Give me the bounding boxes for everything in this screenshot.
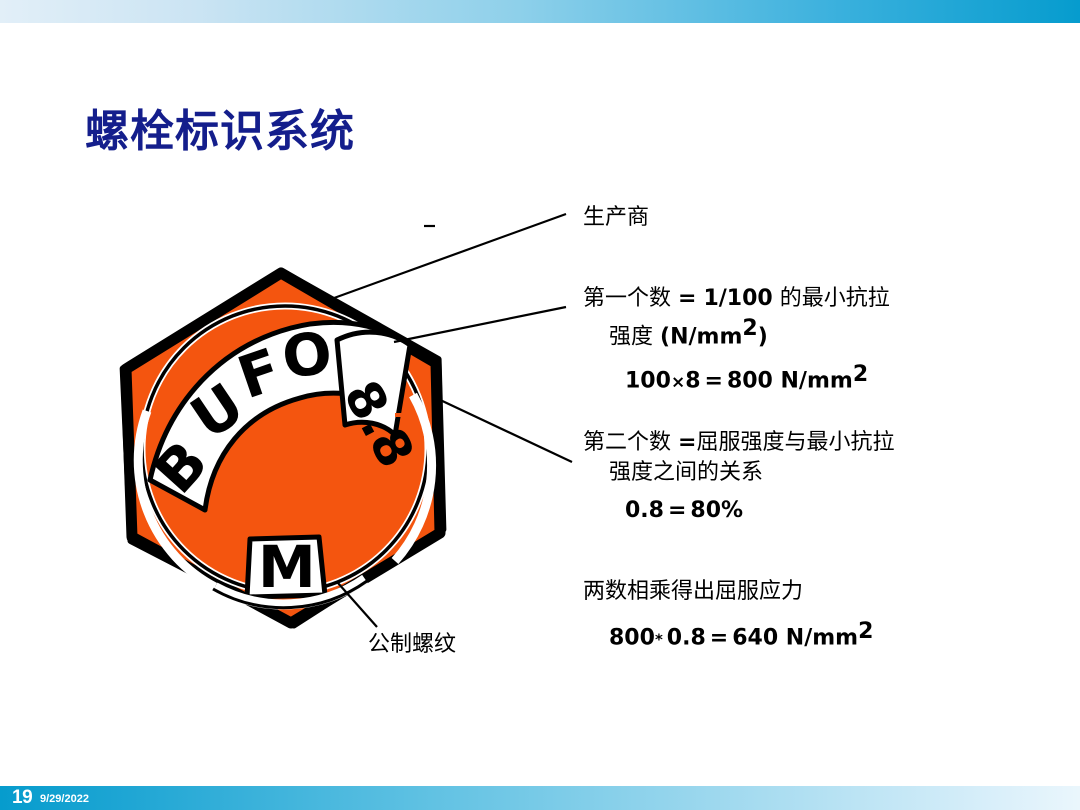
- first-digit-label: 第一个数: [583, 286, 671, 311]
- second-digit-calc-result: 80%: [690, 498, 743, 523]
- first-digit-equals: =: [678, 286, 696, 311]
- yield-calc-equals: =: [710, 625, 728, 650]
- callout-first-digit-line3: 100×8 = 800 N/mm2: [583, 362, 890, 393]
- callout-second-digit: 第二个数 =屈服强度与最小抗拉 强度之间的关系 0.8 = 80%: [583, 428, 894, 523]
- top-gradient-band: [0, 0, 1080, 23]
- second-digit-desc2: 强度之间的关系: [609, 460, 763, 485]
- callout-first-digit-line2: 强度 (N/mm2): [583, 314, 890, 352]
- footer-slide-number: 19: [12, 787, 32, 809]
- yield-calc-star: *: [655, 630, 663, 648]
- second-digit-calc-equals: =: [668, 498, 686, 523]
- callout-second-digit-line2: 强度之间的关系: [583, 458, 894, 488]
- callout-yield-stress-line1: 两数相乘得出屈服应力: [583, 577, 873, 607]
- first-digit-calc-b: 8: [685, 369, 700, 394]
- callout-manufacturer-line1: 生产商: [583, 203, 649, 233]
- yield-calc-result-exponent: 2: [858, 619, 873, 644]
- first-digit-calc-times: ×: [671, 373, 685, 393]
- callout-manufacturer: 生产商: [583, 203, 649, 233]
- yield-calc-b: 0.8: [667, 625, 706, 650]
- yield-calc-a: 800: [609, 625, 655, 650]
- callout-second-digit-line1: 第二个数 =屈服强度与最小抗拉: [583, 428, 894, 458]
- callout-first-digit-line1: 第一个数 = 1/100 的最小抗拉: [583, 284, 890, 314]
- slide-canvas: 螺栓标识系统 B U F O: [0, 0, 1080, 810]
- callout-second-digit-line3: 0.8 = 80%: [583, 498, 894, 523]
- first-digit-ratio: 1/100: [703, 286, 772, 311]
- svg-text:O: O: [278, 318, 335, 392]
- first-digit-calc-result-exponent: 2: [853, 362, 868, 387]
- first-digit-calc-result: 800 N/mm: [727, 369, 853, 394]
- first-digit-unit-exponent: 2: [742, 316, 757, 341]
- callout-first-digit: 第一个数 = 1/100 的最小抗拉 强度 (N/mm2) 100×8 = 80…: [583, 284, 890, 394]
- first-digit-unit-open: (N/mm: [660, 324, 742, 349]
- second-digit-equals: =: [678, 430, 696, 455]
- callout-yield-stress-line2: 800* 0.8 = 640 N/mm2: [583, 619, 873, 650]
- first-digit-calc-equals: =: [705, 369, 723, 394]
- callout-metric-thread: 公制螺纹: [368, 630, 456, 660]
- first-digit-calc-a: 100: [625, 369, 671, 394]
- metric-marking-text: M: [258, 533, 316, 601]
- bottom-gradient-band: 19 9/29/2022: [0, 786, 1080, 810]
- first-digit-unit-close: ): [758, 324, 768, 349]
- second-digit-desc: 屈服强度与最小抗拉: [696, 430, 894, 455]
- first-digit-desc: 的最小抗拉: [780, 286, 890, 311]
- yield-calc-result: 640 N/mm: [732, 625, 858, 650]
- second-digit-calc-a: 0.8: [625, 498, 664, 523]
- first-digit-strength-word: 强度: [609, 324, 653, 349]
- bolt-head-illustration: B U F O 8.8 M: [95, 265, 475, 635]
- page-title: 螺栓标识系统: [85, 95, 355, 159]
- second-digit-label: 第二个数: [583, 430, 671, 455]
- footer-date: 9/29/2022: [40, 793, 89, 805]
- callout-yield-stress: 两数相乘得出屈服应力 800* 0.8 = 640 N/mm2: [583, 577, 873, 650]
